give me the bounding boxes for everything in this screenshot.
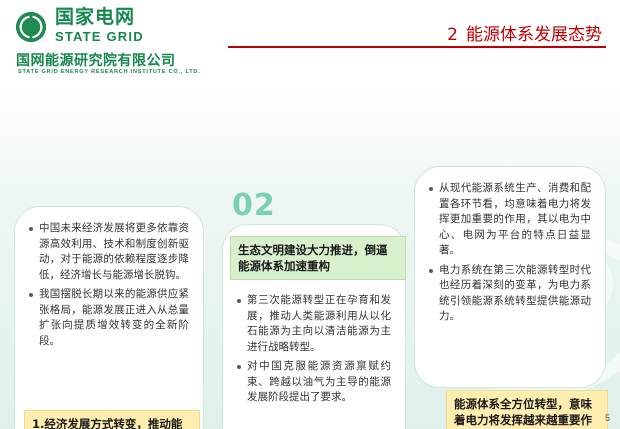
- logo-english-name: STATE GRID: [55, 30, 144, 43]
- page-title-number: 2: [447, 25, 458, 45]
- title-underline: [228, 46, 606, 48]
- callout-ecological-civilization: 生态文明建设大力推进，倒逼能源体系加速重构: [230, 236, 406, 280]
- bullet-list-1: 中国未来经济发展将更多依靠资源高效利用、技术和制度创新驱动，对于能源的依赖程度逐…: [15, 207, 203, 363]
- content-bubble-3: 从现代能源系统生产、消费和配置各环节看，均意味着电力将发挥更加重要的作用，其以电…: [414, 166, 606, 388]
- bullet-item: 我国摆脱长期以来的能源供应紧张格局，能源发展正进入从总量扩张向提质增效转变的全新…: [29, 287, 189, 349]
- slide-body: 中国未来经济发展将更多依靠资源高效利用、技术和制度创新驱动，对于能源的依赖程度逐…: [0, 84, 620, 429]
- logo-chinese-name: 国家电网: [55, 8, 144, 27]
- section-marker-02: 02: [232, 188, 276, 223]
- page-number: 5: [605, 413, 610, 423]
- slide-header: 国家电网 STATE GRID 国网能源研究院有限公司 STATE GRID E…: [0, 0, 620, 84]
- bullet-item: 电力系统在第三次能源转型时代也经历着深刻的变革，为电力系统引领能源系统转型提供能…: [429, 263, 591, 325]
- bullet-list-3: 从现代能源系统生产、消费和配置各环节看，均意味着电力将发挥更加重要的作用，其以电…: [415, 167, 605, 339]
- content-bubble-1: 中国未来经济发展将更多依靠资源高效利用、技术和制度创新驱动，对于能源的依赖程度逐…: [14, 206, 204, 429]
- bullet-item: 中国未来经济发展将更多依靠资源高效利用、技术和制度创新驱动，对于能源的依赖程度逐…: [29, 221, 189, 283]
- logo-text-block: 国家电网 STATE GRID: [55, 8, 144, 43]
- callout-power-transformation: 能源体系全方位转型，意味着电力将发挥越来越重要作用: [446, 390, 608, 429]
- bullet-item: 从现代能源系统生产、消费和配置各环节看，均意味着电力将发挥更加重要的作用，其以电…: [429, 181, 591, 259]
- bullet-item: 第三次能源转型正在孕育和发展，推动人类能源利用从以化石能源为主向以清洁能源为主进…: [237, 293, 391, 355]
- callout-economic-transformation: 1.经济发展方式转变，推动能源发展从总量扩张转向提质增效: [24, 410, 200, 429]
- bullet-item: 对中国克服能源资源禀赋约束、跨越以油气为主导的能源发展阶段提出了要求。: [237, 359, 391, 406]
- institute-english-name: STATE GRID ENERGY RESEARCH INSTITUTE CO.…: [18, 69, 200, 75]
- state-grid-logo-icon: [14, 10, 48, 44]
- slide: 国家电网 STATE GRID 国网能源研究院有限公司 STATE GRID E…: [0, 0, 620, 429]
- page-title-text: 能源体系发展态势: [466, 25, 602, 45]
- page-title: 2能源体系发展态势: [447, 20, 602, 45]
- state-grid-logo: 国家电网 STATE GRID: [14, 8, 144, 44]
- institute-chinese-name: 国网能源研究院有限公司: [16, 50, 176, 70]
